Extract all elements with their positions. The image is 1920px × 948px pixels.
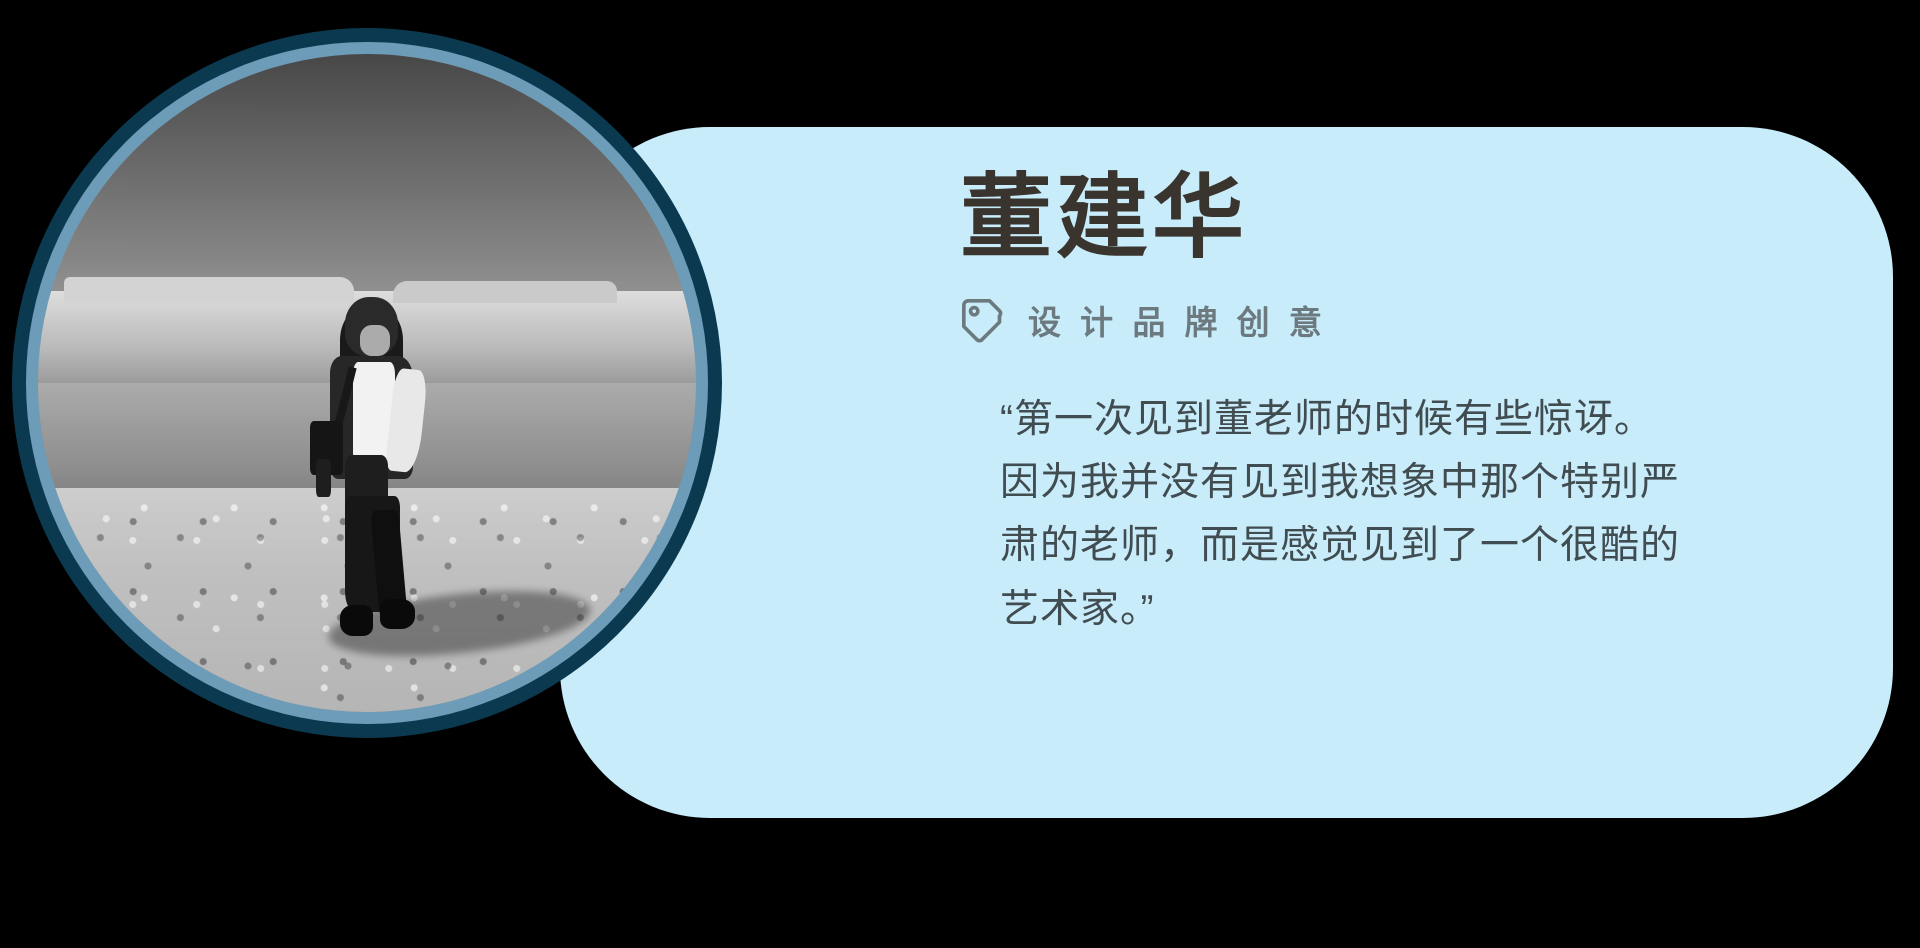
profile-quote: “第一次见到董老师的时候有些惊讶。 因为我并没有见到我想象中那个特别严 肃的老师…: [1000, 388, 1793, 641]
photo-scene: [38, 54, 696, 712]
quote-line: 肃的老师，而是感觉见到了一个很酷的: [1000, 514, 1793, 577]
photo-person: [308, 297, 433, 639]
profile-info-card: 董建华 设 计 品 牌 创 意 “第一次见到董老师的时候有些惊讶。 因为我并没有…: [560, 127, 1893, 818]
quote-line: “第一次见到董老师的时候有些惊讶。: [1000, 388, 1793, 451]
person-shoe-right: [380, 599, 415, 630]
profile-info-content: 董建华 设 计 品 牌 创 意 “第一次见到董老师的时候有些惊讶。 因为我并没有…: [960, 167, 1833, 778]
tag-row: 设 计 品 牌 创 意: [960, 296, 1833, 344]
camera-icon: [310, 421, 343, 476]
quote-line: 艺术家。”: [1000, 578, 1793, 641]
person-face: [360, 325, 390, 356]
profile-photo: [12, 28, 722, 738]
tag-icon: [960, 297, 1006, 343]
page-title: 董建华: [960, 167, 1833, 270]
profile-card-stage: 董建华 设 计 品 牌 创 意 “第一次见到董老师的时候有些惊讶。 因为我并没有…: [0, 0, 1920, 948]
quote-line: 因为我并没有见到我想象中那个特别严: [1000, 451, 1793, 514]
person-shoe-left: [340, 605, 373, 636]
tag-labels: 设 计 品 牌 创 意: [1028, 296, 1327, 344]
photo-image: [38, 54, 696, 712]
